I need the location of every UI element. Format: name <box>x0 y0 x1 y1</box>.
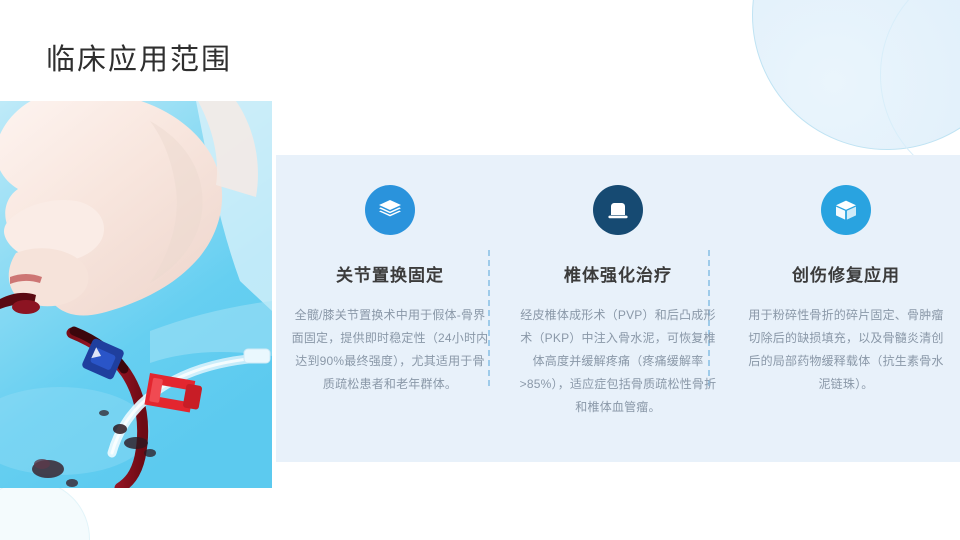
application-card-trauma-repair: 创伤修复应用 用于粉碎性骨折的碎片固定、骨肿瘤切除后的缺损填充，以及骨髓炎清创后… <box>732 155 960 396</box>
applications-columns: 关节置换固定 全髋/膝关节置换术中用于假体-骨界面固定，提供即时稳定性（24小时… <box>276 155 960 462</box>
card-description: 用于粉碎性骨折的碎片固定、骨肿瘤切除后的缺损填充，以及骨髓炎清创后的局部药物缓释… <box>746 304 946 396</box>
applications-panel: 关节置换固定 全髋/膝关节置换术中用于假体-骨界面固定，提供即时稳定性（24小时… <box>276 155 960 462</box>
page-title: 临床应用范围 <box>46 40 232 80</box>
monitor-icon <box>593 185 643 235</box>
surgical-procedure-photo <box>0 101 272 488</box>
card-description: 经皮椎体成形术（PVP）和后凸成形术（PKP）中注入骨水泥，可恢复椎体高度并缓解… <box>518 304 718 419</box>
card-title: 创伤修复应用 <box>746 265 946 287</box>
application-card-vertebral-augmentation: 椎体强化治疗 经皮椎体成形术（PVP）和后凸成形术（PKP）中注入骨水泥，可恢复… <box>504 155 732 419</box>
card-title: 椎体强化治疗 <box>518 265 718 287</box>
slide-root: 临床应用范围 <box>0 0 960 540</box>
cube-icon <box>821 185 871 235</box>
card-title: 关节置换固定 <box>290 265 490 287</box>
card-description: 全髋/膝关节置换术中用于假体-骨界面固定，提供即时稳定性（24小时内达到90%最… <box>290 304 490 396</box>
decorative-circle-bottom-left <box>0 480 90 540</box>
application-card-joint-replacement: 关节置换固定 全髋/膝关节置换术中用于假体-骨界面固定，提供即时稳定性（24小时… <box>276 155 504 396</box>
layers-icon <box>365 185 415 235</box>
